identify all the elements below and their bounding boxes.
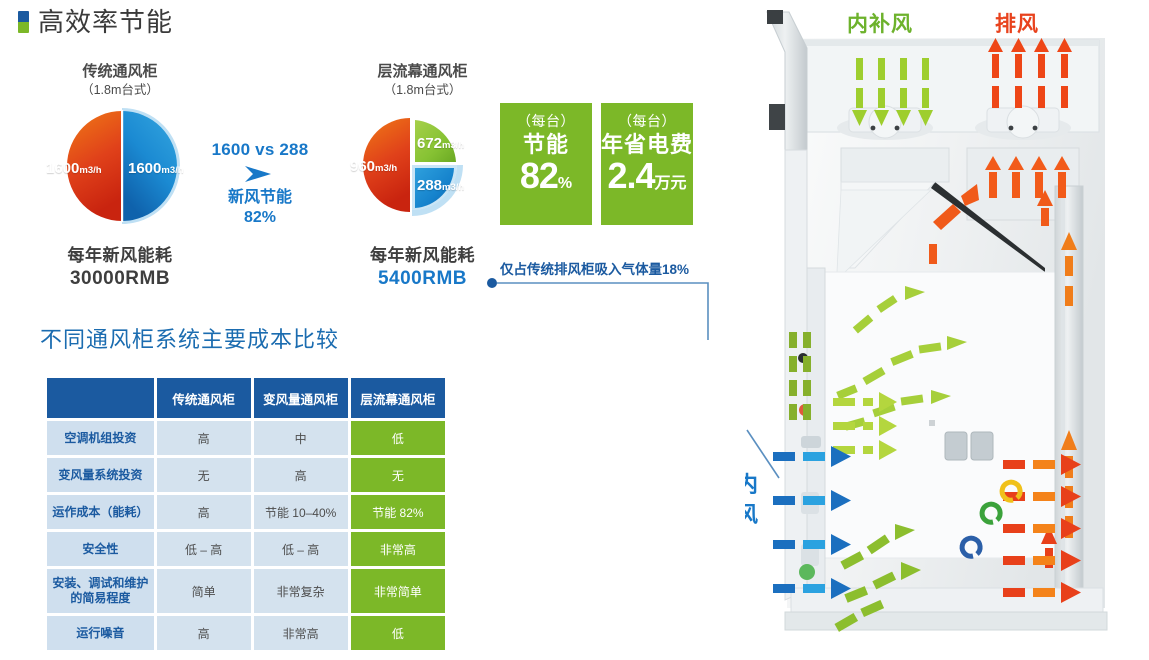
table-title: 不同通风柜系统主要成本比较: [40, 322, 339, 354]
table-row-head: 安装、调试和维护的简易程度: [47, 569, 154, 613]
infographic-page: 高效率节能 传统通风柜 （1.8m台式） 1600m: [0, 0, 1149, 660]
table-cell: 高: [254, 458, 348, 492]
table-col-header-1: 传统通风柜: [157, 378, 251, 418]
leader-note-text: 仅占传统排风柜吸入气体量18%: [500, 258, 689, 278]
table-col-header-0: [47, 378, 154, 418]
green-inlet-rows: [833, 392, 897, 460]
benefit-value: 82%: [196, 208, 324, 228]
table-row: 变风量系统投资 无 高 无: [47, 458, 445, 492]
page-title: 高效率节能: [38, 8, 173, 36]
left-footer-label: 每年新风能耗: [30, 244, 210, 267]
table-cell: 高: [157, 495, 251, 529]
badge-0-big: 82%: [500, 158, 592, 202]
left-pie-subtitle: （1.8m台式）: [30, 82, 210, 99]
table-cell: 低 – 高: [254, 532, 348, 566]
table-cell: 中: [254, 421, 348, 455]
table-row-head: 运行噪音: [47, 616, 154, 650]
right-pie-caption: 层流幕通风柜 （1.8m台式）: [330, 62, 515, 99]
table-cell-highlight: 低: [351, 421, 445, 455]
table-cell: 简单: [157, 569, 251, 613]
header-square-marker-icon: [18, 11, 29, 33]
table-cell-highlight: 无: [351, 458, 445, 492]
fume-hood-illustration: 内补风 排风 室内 新风: [745, 0, 1149, 660]
table-cell: 高: [157, 421, 251, 455]
label-inner-supply: 内补风: [847, 8, 913, 38]
label-exhaust: 排风: [995, 8, 1039, 38]
table-row: 空调机组投资 高 中 低: [47, 421, 445, 455]
fume-hood-svg: [745, 0, 1149, 660]
table-row-head: 运作成本（能耗）: [47, 495, 154, 529]
table-row: 安全性 低 – 高 低 – 高 非常高: [47, 532, 445, 566]
badge-1-small: （每台）: [601, 112, 693, 130]
table-cell: 高: [157, 616, 251, 650]
leader-line: [486, 278, 726, 353]
badge-annual-savings: （每台） 年省电费 2.4万元: [601, 103, 693, 225]
left-pie-footer: 每年新风能耗 30000RMB: [30, 244, 210, 291]
table-header-row: 传统通风柜 变风量通风柜 层流幕通风柜: [47, 378, 445, 418]
left-pie-title: 传统通风柜: [30, 62, 210, 82]
table-cell: 非常高: [254, 616, 348, 650]
right-pie-subtitle: （1.8m台式）: [330, 82, 515, 99]
table-cell: 低 – 高: [157, 532, 251, 566]
right-pie-slice-label-2: 288m3/h: [417, 177, 464, 195]
left-pie-slice-label-1: 1600m3/h: [128, 160, 184, 178]
table-cell-highlight: 非常高: [351, 532, 445, 566]
table-cell: 非常复杂: [254, 569, 348, 613]
right-pie-slice-label-1: 672m3/h: [417, 135, 464, 153]
table-row-head: 安全性: [47, 532, 154, 566]
left-pie-chart: 1600m3/h 1600m3/h: [38, 106, 206, 226]
table-row: 运作成本（能耗） 高 节能 10–40% 节能 82%: [47, 495, 445, 529]
badge-0-small: （每台）: [500, 112, 592, 130]
table-col-header-3: 层流幕通风柜: [351, 378, 445, 418]
benefit-label: 新风节能: [196, 187, 324, 208]
table-row-head: 空调机组投资: [47, 421, 154, 455]
table-col-header-2: 变风量通风柜: [254, 378, 348, 418]
left-footer-value: 30000RMB: [30, 267, 210, 291]
right-pie-chart: 960m3/h 672m3/h 288m3/h: [344, 110, 494, 220]
right-pie-slice-label-0: 960m3/h: [350, 158, 397, 176]
table-cell-highlight: 非常简单: [351, 569, 445, 613]
comparison-summary: 1600 vs 288 新风节能 82%: [196, 140, 324, 228]
vs-text: 1600 vs 288: [196, 140, 324, 160]
left-pie-slice-label-0: 1600m3/h: [46, 160, 102, 178]
table-row: 运行噪音 高 非常高 低: [47, 616, 445, 650]
table-cell: 无: [157, 458, 251, 492]
right-pie-title: 层流幕通风柜: [330, 62, 515, 82]
right-footer-label: 每年新风能耗: [330, 244, 515, 267]
label-indoor-fresh-air: 室内 新风: [745, 470, 759, 530]
badge-energy-saving: （每台） 节能 82%: [500, 103, 592, 225]
badge-1-big: 2.4万元: [601, 158, 693, 202]
chevron-right-icon: [237, 164, 283, 184]
table-row: 安装、调试和维护的简易程度 简单 非常复杂 非常简单: [47, 569, 445, 613]
left-pie-caption: 传统通风柜 （1.8m台式）: [30, 62, 210, 99]
table-cell: 节能 10–40%: [254, 495, 348, 529]
page-header: 高效率节能: [18, 8, 173, 36]
table-cell-highlight: 节能 82%: [351, 495, 445, 529]
table-cell-highlight: 低: [351, 616, 445, 650]
cost-comparison-table: 传统通风柜 变风量通风柜 层流幕通风柜 空调机组投资 高 中 低 变风量系统投资…: [44, 375, 448, 653]
table-row-head: 变风量系统投资: [47, 458, 154, 492]
